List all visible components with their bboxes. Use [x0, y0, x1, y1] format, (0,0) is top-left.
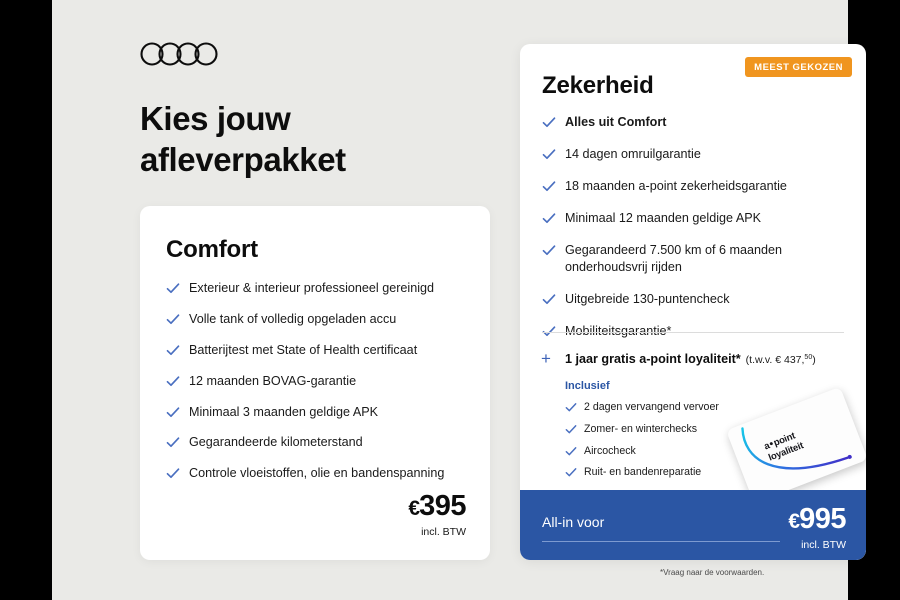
- list-item-label: Minimaal 3 maanden geldige APK: [189, 405, 378, 419]
- check-icon: [542, 212, 556, 225]
- check-icon: [166, 375, 180, 388]
- check-icon: [565, 402, 577, 413]
- list-item-label: Gegarandeerde kilometerstand: [189, 435, 363, 449]
- list-item: Exterieur & interieur professioneel gere…: [166, 280, 466, 298]
- comfort-price: €395: [408, 492, 466, 521]
- list-item-label: Controle vloeistoffen, olie en bandenspa…: [189, 466, 444, 480]
- list-item-label: Minimaal 12 maanden geldige APK: [565, 211, 761, 225]
- page-title-line-1: Kies jouw: [140, 98, 470, 139]
- check-icon: [565, 467, 577, 478]
- list-item-label: Aircocheck: [584, 445, 636, 457]
- list-item: Batterijtest met State of Health certifi…: [166, 342, 466, 360]
- page-title: Kies jouw afleverpakket: [140, 98, 470, 181]
- list-item-label: Gegarandeerd 7.500 km of 6 maanden onder…: [565, 243, 782, 275]
- list-item: Gegarandeerd 7.500 km of 6 maanden onder…: [542, 242, 848, 278]
- section-divider: [542, 332, 844, 333]
- zekerheid-price-footer: All-in voor €995 incl. BTW: [520, 490, 866, 560]
- left-black-bar: [0, 0, 52, 600]
- check-icon: [565, 424, 577, 435]
- comfort-feature-list: Exterieur & interieur professioneel gere…: [166, 280, 466, 496]
- page-title-line-2: afleverpakket: [140, 139, 470, 180]
- zekerheid-feature-list: Alles uit Comfort 14 dagen omruilgaranti…: [542, 114, 848, 355]
- zekerheid-price: €995: [788, 505, 846, 534]
- list-item: Minimaal 3 maanden geldige APK: [166, 404, 466, 422]
- list-item: Volle tank of volledig opgeladen accu: [166, 311, 466, 329]
- check-icon: [166, 282, 180, 295]
- list-item: 14 dagen omruilgarantie: [542, 146, 848, 164]
- currency-symbol: €: [788, 510, 799, 533]
- check-icon: [542, 148, 556, 161]
- list-item-label: Uitgebreide 130-puntencheck: [565, 292, 730, 306]
- comfort-title: Comfort: [166, 236, 258, 264]
- footer-price-block: €995 incl. BTW: [788, 505, 846, 551]
- package-card-zekerheid[interactable]: MEEST GEKOZEN Zekerheid Alles uit Comfor…: [520, 44, 866, 560]
- status-badge: MEEST GEKOZEN: [745, 57, 852, 77]
- comfort-price-block: €395 incl. BTW: [408, 492, 466, 538]
- list-item: Gegarandeerde kilometerstand: [166, 434, 466, 452]
- zekerheid-title: Zekerheid: [542, 72, 654, 100]
- list-item: Alles uit Comfort: [542, 114, 848, 132]
- loyalty-headline-row: + 1 jaar gratis a-point loyaliteit*(t.w.…: [542, 352, 848, 366]
- list-item-label: 12 maanden BOVAG-garantie: [189, 374, 356, 388]
- zekerheid-price-note: incl. BTW: [788, 539, 846, 551]
- check-icon: [542, 244, 556, 257]
- check-icon: [542, 116, 556, 129]
- comfort-price-note: incl. BTW: [408, 526, 466, 538]
- check-icon: [542, 293, 556, 306]
- check-icon: [166, 467, 180, 480]
- list-item: 12 maanden BOVAG-garantie: [166, 373, 466, 391]
- list-item: Controle vloeistoffen, olie en bandenspa…: [166, 465, 466, 483]
- list-item-label: 2 dagen vervangend vervoer: [584, 401, 719, 413]
- audi-rings-logo-icon: [140, 41, 222, 72]
- list-item-label: Batterijtest met State of Health certifi…: [189, 343, 417, 357]
- check-icon: [166, 436, 180, 449]
- list-item-label: Exterieur & interieur professioneel gere…: [189, 281, 434, 295]
- content-canvas: Kies jouw afleverpakket Comfort Exterieu…: [52, 0, 848, 600]
- footer-price-label: All-in voor: [542, 514, 604, 530]
- footer-underline: [542, 541, 780, 542]
- loyalty-section: + 1 jaar gratis a-point loyaliteit*(t.w.…: [542, 352, 848, 488]
- price-amount: 395: [419, 490, 466, 522]
- check-icon: [166, 406, 180, 419]
- list-item-label: Zomer- en winterchecks: [584, 423, 697, 435]
- package-card-comfort[interactable]: Comfort Exterieur & interieur profession…: [140, 206, 490, 560]
- list-item: 18 maanden a-point zekerheidsgarantie: [542, 178, 848, 196]
- loyalty-value-note: (t.w.v. € 437,50): [746, 354, 816, 366]
- list-item-label: Alles uit Comfort: [565, 115, 666, 129]
- check-icon: [542, 180, 556, 193]
- list-item-label: 18 maanden a-point zekerheidsgarantie: [565, 179, 787, 193]
- loyalty-value-suffix: ): [812, 354, 816, 366]
- check-icon: [166, 344, 180, 357]
- list-item-label: Volle tank of volledig opgeladen accu: [189, 312, 396, 326]
- plus-icon: +: [541, 351, 551, 367]
- price-amount: 995: [799, 503, 846, 535]
- list-item: Minimaal 12 maanden geldige APK: [542, 210, 848, 228]
- footnote-text: *Vraag naar de voorwaarden.: [660, 568, 764, 577]
- screenshot-root: Kies jouw afleverpakket Comfort Exterieu…: [0, 0, 900, 600]
- inclusief-label: Inclusief: [565, 380, 848, 392]
- loyalty-headline: 1 jaar gratis a-point loyaliteit*: [565, 352, 741, 366]
- list-item-label: 14 dagen omruilgarantie: [565, 147, 701, 161]
- check-icon: [565, 446, 577, 457]
- loyalty-value-prefix: (t.w.v. € 437,: [746, 354, 805, 366]
- list-item-label: Ruit- en bandenreparatie: [584, 466, 701, 478]
- currency-symbol: €: [408, 497, 419, 520]
- check-icon: [166, 313, 180, 326]
- list-item: Uitgebreide 130-puntencheck: [542, 291, 848, 309]
